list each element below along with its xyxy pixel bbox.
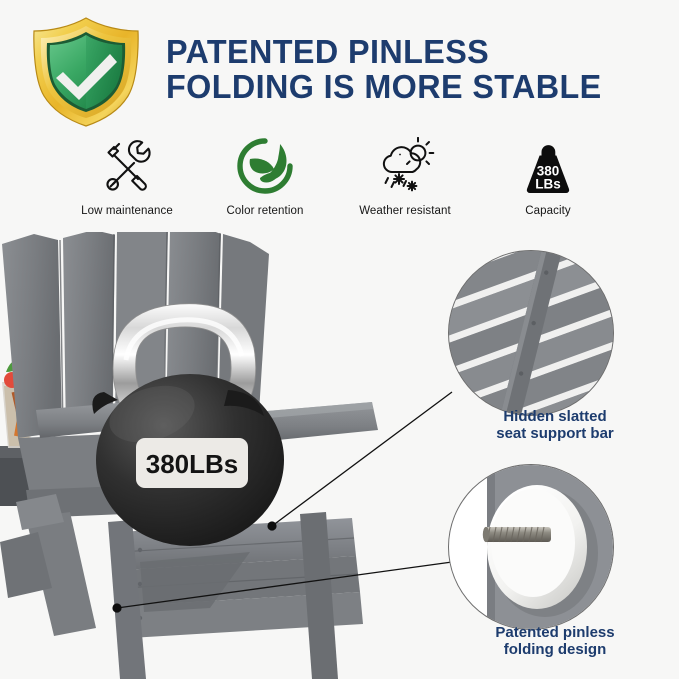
leaf-circle-icon: [185, 135, 345, 197]
callout-caption-1: Hidden slatted seat support bar: [440, 408, 670, 442]
marketing-infographic: PATENTED PINLESS FOLDING IS MORE STABLE: [0, 0, 679, 679]
feature-label: Low maintenance: [47, 205, 207, 217]
weight-icon: 380 LBs: [468, 135, 628, 197]
cloud-sun-snow-icon: [325, 135, 485, 197]
page-title: PATENTED PINLESS FOLDING IS MORE STABLE: [166, 34, 656, 104]
caption-line-1: Hidden slatted: [440, 408, 670, 425]
weight-unit: LBs: [535, 177, 561, 192]
feature-row: Low maintenance Color retention: [0, 135, 679, 230]
leader-line-1: [272, 392, 452, 526]
feature-weather-resistant: Weather resistant: [325, 135, 485, 217]
feature-color-retention: Color retention: [185, 135, 345, 217]
feature-low-maintenance: Low maintenance: [47, 135, 207, 217]
feature-label: Color retention: [185, 205, 345, 217]
product-photo-area: 380LBs: [0, 232, 679, 679]
caption-line-2: seat support bar: [440, 425, 670, 442]
header-band: PATENTED PINLESS FOLDING IS MORE STABLE: [0, 0, 679, 132]
callout-patented-pinless-folding-design: [448, 464, 614, 630]
callout-caption-2: Patented pinless folding design: [440, 624, 670, 658]
caption-line-2: folding design: [440, 641, 670, 658]
feature-label: Weather resistant: [325, 205, 485, 217]
headline-line-1: PATENTED PINLESS: [166, 34, 656, 69]
leader-line-2: [117, 562, 452, 608]
feature-label: Capacity: [468, 205, 628, 217]
callout-hidden-slatted-seat-support-bar: [448, 250, 614, 416]
shield-check-icon: [22, 14, 150, 130]
wrench-screwdriver-icon: [47, 135, 207, 197]
feature-capacity: 380 LBs Capacity: [468, 135, 628, 217]
caption-line-1: Patented pinless: [440, 624, 670, 641]
headline-line-2: FOLDING IS MORE STABLE: [166, 69, 656, 104]
leader-anchor-1: [267, 521, 276, 530]
leader-anchor-2: [112, 603, 121, 612]
